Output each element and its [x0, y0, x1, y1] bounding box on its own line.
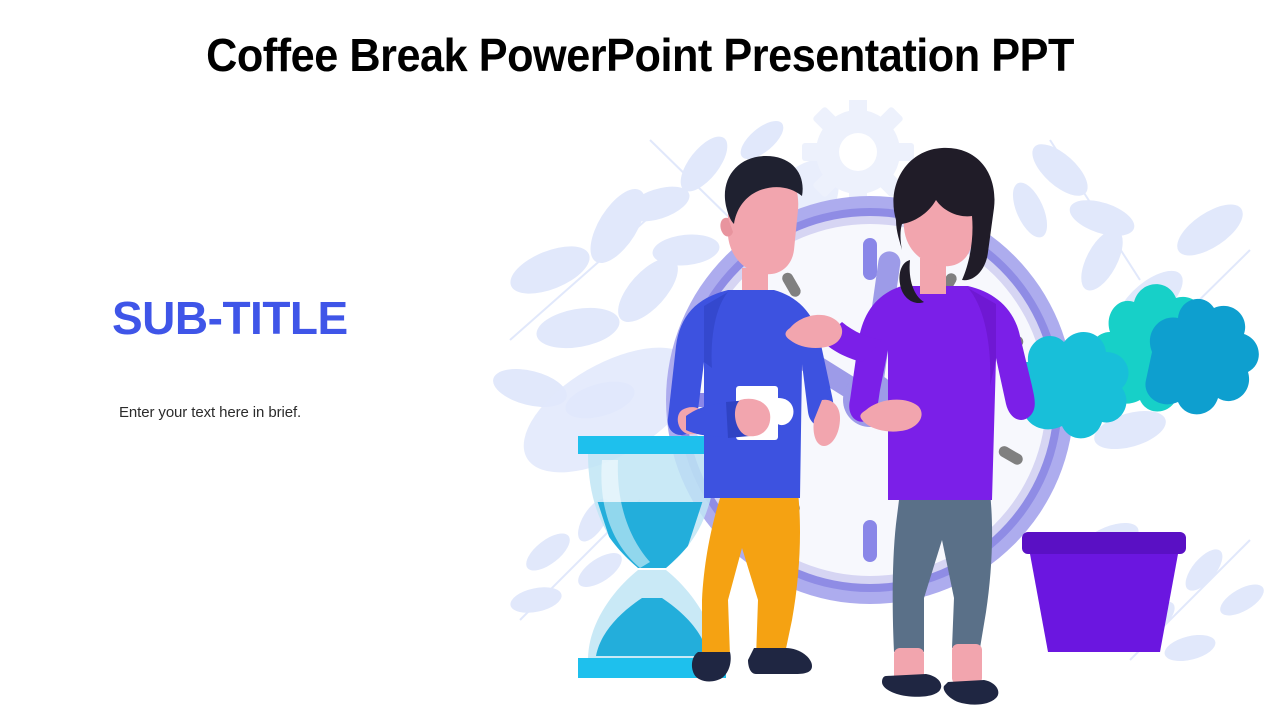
- man-shoe-back: [748, 648, 812, 674]
- woman-ankle-right: [952, 644, 982, 684]
- subtitle-heading: SUB-TITLE: [112, 295, 348, 341]
- clock-tick-12: [863, 238, 877, 280]
- plant-pot-body: [1030, 554, 1178, 652]
- body-placeholder-text: Enter your text here in brief.: [119, 403, 301, 423]
- plant-pot-rim: [1022, 532, 1186, 554]
- woman-shoe-left: [882, 674, 941, 697]
- leaf-sprig-upper-right: [1006, 135, 1140, 280]
- man-pants: [702, 492, 800, 658]
- coffee-break-illustration: [490, 100, 1280, 720]
- presentation-slide: Coffee Break PowerPoint Presentation PPT…: [0, 0, 1280, 720]
- hourglass-top-cap: [578, 436, 726, 454]
- clock-tick-6: [863, 520, 877, 562]
- page-title: Coffee Break PowerPoint Presentation PPT: [38, 28, 1241, 82]
- woman-shoe-right: [944, 680, 999, 705]
